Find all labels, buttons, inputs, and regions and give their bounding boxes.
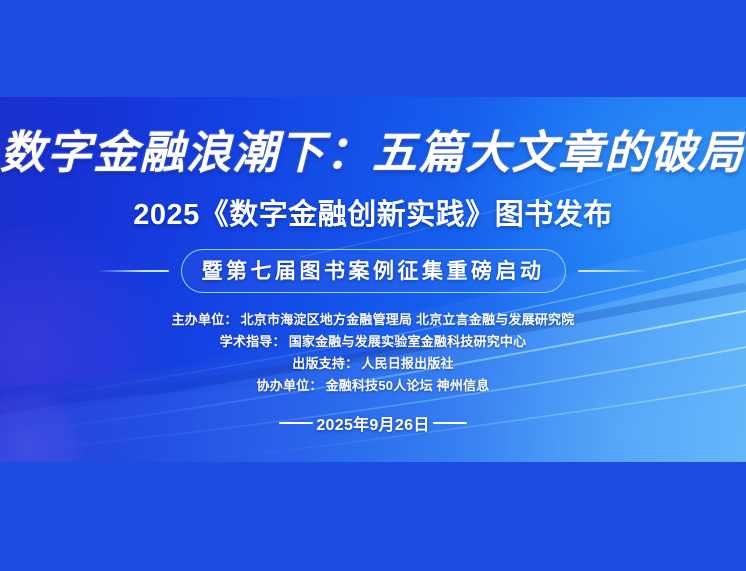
credit-value: 人民日报出版社 — [361, 356, 453, 371]
credit-line: 协办单位：金融科技50人论坛 神州信息 — [257, 375, 490, 394]
credit-line: 主办单位：北京市海淀区地方金融管理局 北京立言金融与发展研究院 — [172, 309, 575, 328]
credits-block: 主办单位：北京市海淀区地方金融管理局 北京立言金融与发展研究院 学术指导：国家金… — [0, 293, 746, 394]
credit-value: 金融科技50人论坛 神州信息 — [326, 378, 490, 393]
banner-subtitle: 2025《数字金融创新实践》图书发布 — [0, 177, 746, 233]
call-for-cases-badge: 暨第七届图书案例征集重磅启动 — [181, 249, 566, 293]
credit-label: 出版支持： — [292, 356, 358, 371]
date-rule-right — [433, 422, 467, 425]
date-rule-left — [279, 422, 313, 425]
credit-value: 北京市海淀区地方金融管理局 北京立言金融与发展研究院 — [241, 312, 575, 327]
date-row: 2025年9月26日 — [0, 394, 746, 435]
credit-line: 学术指导：国家金融与发展实验室金融科技研究中心 — [220, 331, 527, 350]
event-banner: 数字金融浪潮下：五篇大文章的破局与重构 2025《数字金融创新实践》图书发布 暨… — [0, 97, 746, 462]
banner-content: 数字金融浪潮下：五篇大文章的破局与重构 2025《数字金融创新实践》图书发布 暨… — [0, 97, 746, 435]
pill-row: 暨第七届图书案例征集重磅启动 — [0, 233, 746, 293]
event-date: 2025年9月26日 — [315, 411, 430, 435]
pill-rule-left — [97, 270, 169, 272]
page-title: 数字金融浪潮下：五篇大文章的破局与重构 — [0, 97, 746, 177]
pill-rule-right — [578, 270, 650, 272]
credit-label: 学术指导： — [220, 334, 286, 349]
credit-line: 出版支持：人民日报出版社 — [292, 353, 453, 372]
credit-label: 协办单位： — [257, 378, 323, 393]
credit-value: 国家金融与发展实验室金融科技研究中心 — [289, 334, 527, 349]
page-root: 数字金融浪潮下：五篇大文章的破局与重构 2025《数字金融创新实践》图书发布 暨… — [0, 0, 746, 571]
credit-label: 主办单位： — [172, 312, 238, 327]
